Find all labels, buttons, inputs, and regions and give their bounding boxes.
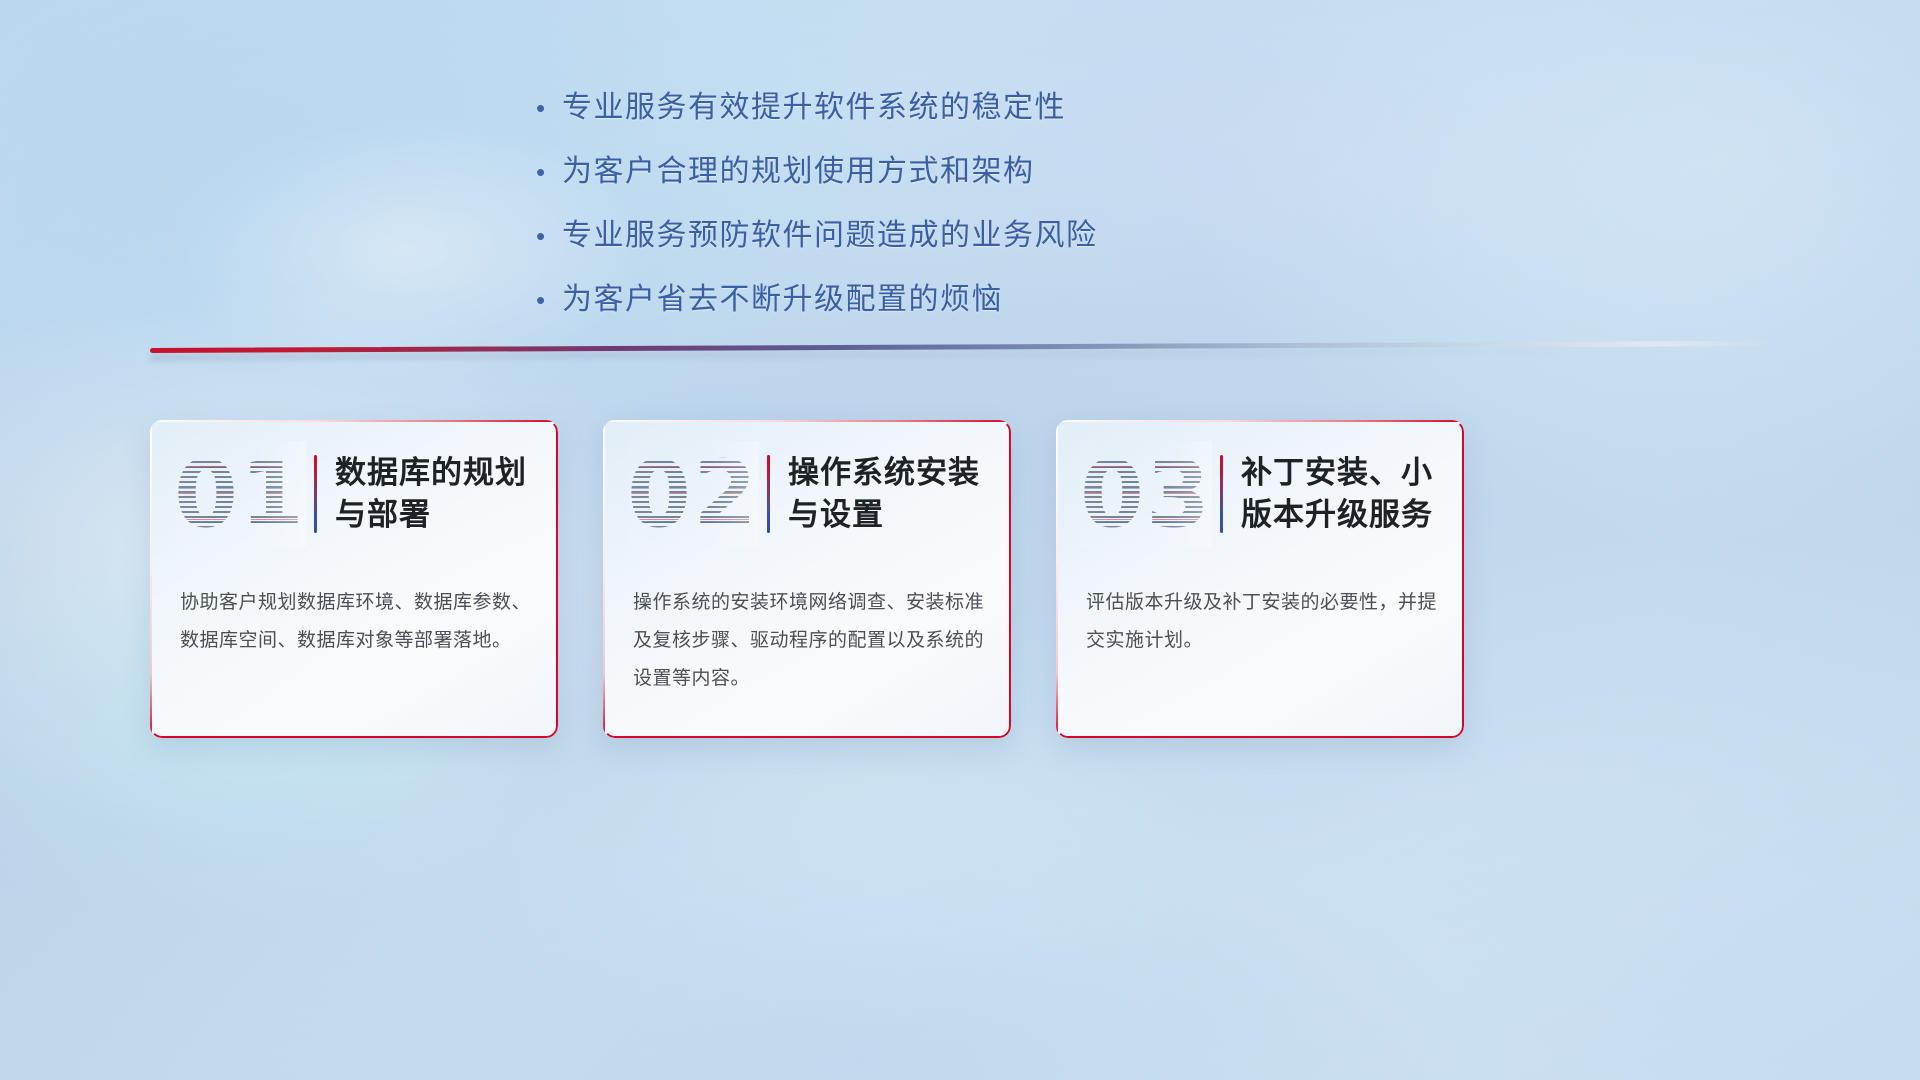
bullet-dot-icon: • [536,88,562,128]
card-number-tint: 03 [1080,441,1212,547]
card-title-divider-icon [767,455,770,533]
list-item: • 专业服务有效提升软件系统的稳定性 [536,88,1296,128]
card-number-tint: 01 [174,441,306,547]
list-item: • 为客户省去不断升级配置的烦恼 [536,280,1296,320]
card-number-tint: 02 [627,441,759,547]
card-header: 02 02 操作系统安装与设置 [603,420,1011,568]
bullet-text: 为客户合理的规划使用方式和架构 [562,152,1035,192]
benefits-bullet-list: • 专业服务有效提升软件系统的稳定性 • 为客户合理的规划使用方式和架构 • 专… [536,88,1296,344]
card-description: 协助客户规划数据库环境、数据库参数、数据库空间、数据库对象等部署落地。 [150,584,558,660]
list-item: • 专业服务预防软件问题造成的业务风险 [536,216,1296,256]
service-card[interactable]: 03 03 补丁安装、小版本升级服务 评估版本升级及补丁安装的必要性，并提交实施… [1056,420,1464,738]
card-title: 补丁安装、小版本升级服务 [1241,452,1438,536]
bullet-dot-icon: • [536,152,562,192]
card-description: 操作系统的安装环境网络调查、安装标准及复核步骤、驱动程序的配置以及系统的设置等内… [603,584,1011,698]
card-number-striped: 02 02 [627,441,759,547]
card-number-striped: 01 01 [174,441,306,547]
bullet-dot-icon: • [536,280,562,320]
bullet-text: 专业服务有效提升软件系统的稳定性 [562,88,1066,128]
list-item: • 为客户合理的规划使用方式和架构 [536,152,1296,192]
card-title-divider-icon [1220,455,1223,533]
service-card[interactable]: 02 02 操作系统安装与设置 操作系统的安装环境网络调查、安装标准及复核步骤、… [603,420,1011,738]
card-header: 01 01 数据库的规划与部署 [150,420,558,568]
card-title-divider-icon [314,455,317,533]
card-description: 评估版本升级及补丁安装的必要性，并提交实施计划。 [1056,584,1464,660]
card-title: 数据库的规划与部署 [335,452,532,536]
bullet-text: 专业服务预防软件问题造成的业务风险 [562,216,1098,256]
card-number-striped: 03 03 [1080,441,1212,547]
card-header: 03 03 补丁安装、小版本升级服务 [1056,420,1464,568]
bullet-dot-icon: • [536,216,562,256]
service-card[interactable]: 01 01 数据库的规划与部署 协助客户规划数据库环境、数据库参数、数据库空间、… [150,420,558,738]
service-card-group: 01 01 数据库的规划与部署 协助客户规划数据库环境、数据库参数、数据库空间、… [150,420,1464,738]
section-divider [150,338,1770,364]
card-title: 操作系统安装与设置 [788,452,985,536]
bullet-text: 为客户省去不断升级配置的烦恼 [562,280,1003,320]
